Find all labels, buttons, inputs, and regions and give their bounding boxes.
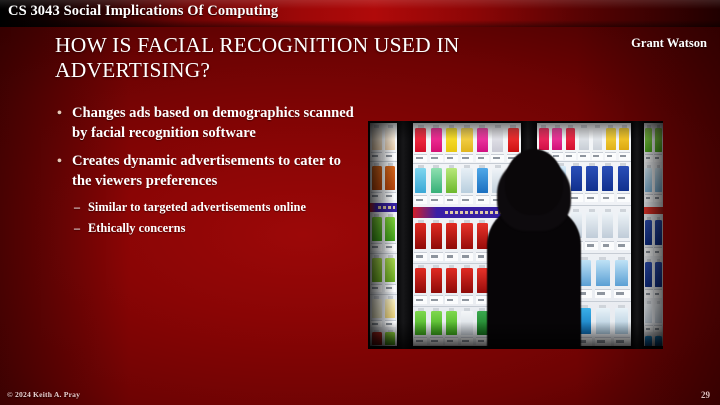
sub-bullet-item: – Similar to targeted advertisements onl…	[55, 200, 355, 216]
vending-panel-far-right	[643, 121, 663, 349]
sub-bullet-text: Ethically concerns	[88, 221, 185, 235]
course-title: CS 3043 Social Implications Of Computing	[8, 3, 278, 20]
sub-bullet-text: Similar to targeted advertisements onlin…	[88, 200, 306, 214]
bullet-marker-icon: •	[57, 104, 62, 124]
copyright-notice: © 2024 Keith A. Pray	[7, 390, 80, 399]
bullet-item: • Changes ads based on demographics scan…	[55, 104, 355, 143]
sub-bullet-item: – Ethically concerns	[55, 221, 355, 237]
page-number: 29	[701, 390, 710, 400]
author-name: Grant Watson	[631, 36, 707, 51]
sub-bullet-marker-icon: –	[74, 221, 80, 237]
slide-header-banner: CS 3043 Social Implications Of Computing	[0, 0, 720, 27]
presentation-slide: CS 3043 Social Implications Of Computing…	[0, 0, 720, 405]
vending-panel-left	[368, 121, 398, 349]
sub-bullet-marker-icon: –	[74, 200, 80, 216]
digital-vending-machine-photo	[368, 121, 663, 349]
vending-glass	[370, 123, 397, 346]
person-silhouette	[486, 149, 582, 349]
vending-promo-bar	[644, 207, 663, 214]
bullet-item: • Creates dynamic advertisements to cate…	[55, 152, 355, 191]
vending-glass	[644, 123, 663, 346]
bullet-text: Changes ads based on demographics scanne…	[72, 105, 354, 141]
vending-frame-divider	[633, 121, 643, 349]
bullet-marker-icon: •	[57, 152, 62, 172]
vending-frame-divider	[398, 121, 411, 349]
slide-body: • Changes ads based on demographics scan…	[55, 104, 355, 241]
bullet-text: Creates dynamic advertisements to cater …	[72, 153, 341, 189]
silhouette-head	[505, 149, 563, 215]
slide-title: HOW IS FACIAL RECOGNITION USED IN ADVERT…	[55, 33, 535, 83]
